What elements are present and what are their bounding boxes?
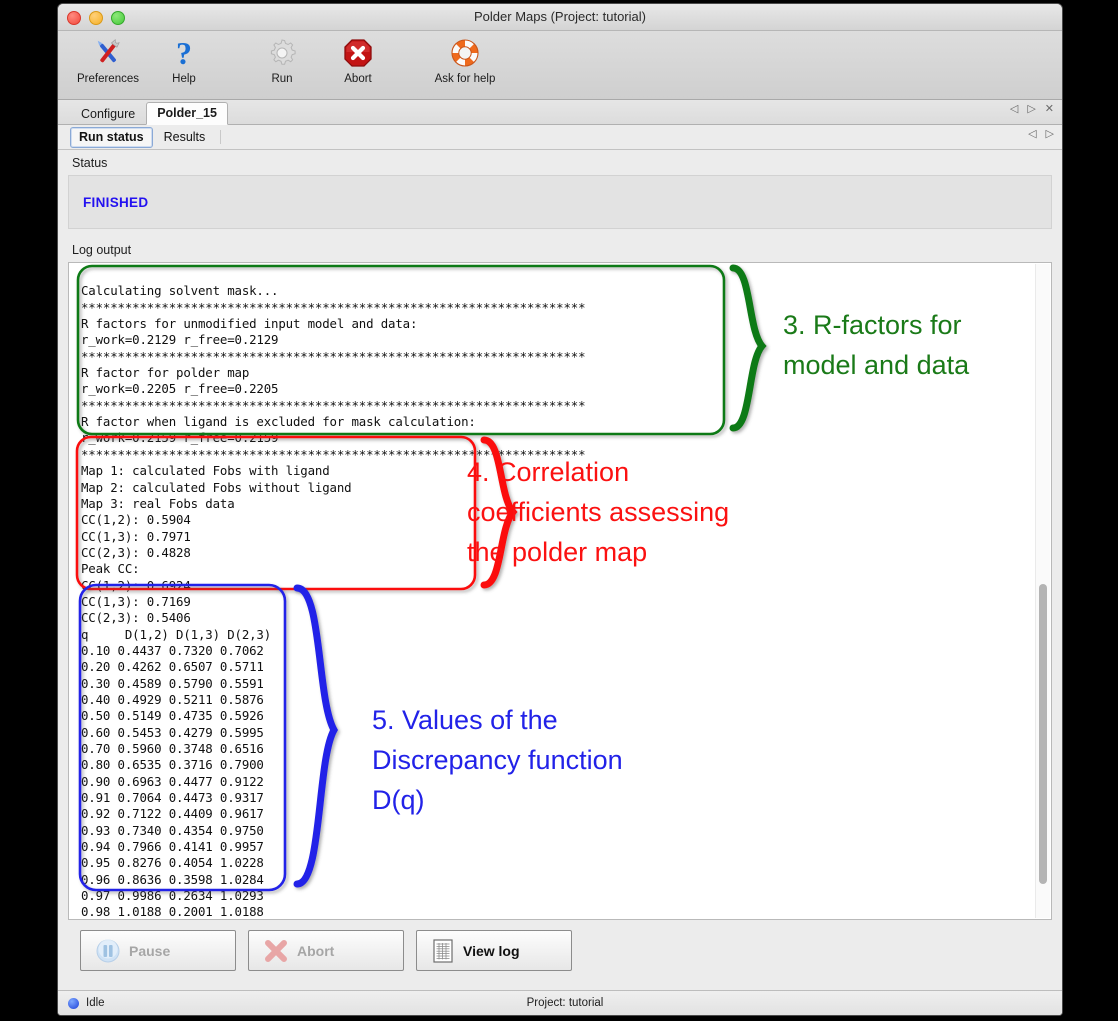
sub-tab-nav: ◁ ▷ [1028, 129, 1054, 140]
toolbar-label-abort: Abort [344, 73, 372, 85]
question-mark-icon: ? [167, 34, 201, 72]
view-log-button[interactable]: View log [416, 930, 572, 971]
pause-button-label: Pause [129, 943, 170, 959]
lifebuoy-icon [449, 34, 481, 72]
status-bar: Idle Project: tutorial [58, 990, 1062, 1015]
toolbar-label-ask-for-help: Ask for help [435, 73, 496, 85]
pause-button[interactable]: Pause [80, 930, 236, 971]
x-cross-icon [263, 938, 289, 964]
main-content: Status FINISHED Log output Calculating s… [58, 150, 1062, 1016]
action-button-bar: Pause Abort [68, 920, 1052, 971]
tab-polder-15[interactable]: Polder_15 [146, 102, 228, 125]
idle-indicator-icon [68, 998, 79, 1009]
toolbar-button-run[interactable]: Run [244, 34, 320, 85]
stop-x-icon [342, 34, 374, 72]
status-section-label: Status [68, 150, 1052, 175]
view-log-button-label: View log [463, 943, 520, 959]
log-output-text: Calculating solvent mask... ************… [81, 283, 585, 920]
log-section-label: Log output [68, 229, 1052, 262]
abort-button-label: Abort [297, 943, 334, 959]
annotation-label-r-factors: 3. R-factors for model and data [783, 305, 969, 385]
toolbar-button-ask-for-help[interactable]: Ask for help [418, 34, 512, 85]
sub-tab-separator [220, 130, 221, 144]
toolbar-label-help: Help [172, 73, 196, 85]
status-bar-project: Project: tutorial [368, 997, 762, 1009]
toolbar-button-abort[interactable]: Abort [320, 34, 396, 85]
gear-icon [266, 34, 298, 72]
toolbar-label-preferences: Preferences [77, 73, 139, 85]
annotation-label-discrepancy: 5. Values of the Discrepancy function D(… [372, 700, 623, 820]
project-tab-nav: ◁ ▷ ✕ [1010, 104, 1054, 115]
annotation-label-correlation: 4. Correlation coefficients assessing th… [467, 452, 729, 572]
tab-prev-icon[interactable]: ◁ [1010, 104, 1018, 115]
document-icon [431, 938, 455, 964]
sub-tab-bar: Run status Results ◁ ▷ [58, 125, 1062, 150]
tab-results[interactable]: Results [155, 127, 215, 148]
project-tab-bar: Configure Polder_15 ◁ ▷ ✕ [58, 100, 1062, 125]
tab-run-status[interactable]: Run status [70, 127, 153, 148]
svg-text:?: ? [176, 36, 192, 70]
toolbar-button-preferences[interactable]: Preferences [70, 34, 146, 85]
log-scrollbar-thumb[interactable] [1039, 584, 1047, 884]
subtab-next-icon[interactable]: ▷ [1046, 129, 1054, 140]
status-bar-left: Idle [58, 997, 368, 1009]
toolbar-button-help[interactable]: ? Help [146, 34, 222, 85]
status-badge: FINISHED [83, 195, 148, 210]
title-bar: Polder Maps (Project: tutorial) [58, 4, 1062, 31]
pause-icon [95, 938, 121, 964]
tab-next-icon[interactable]: ▷ [1027, 104, 1035, 115]
window-title: Polder Maps (Project: tutorial) [58, 9, 1062, 24]
tab-close-icon[interactable]: ✕ [1045, 104, 1054, 115]
log-scrollbar[interactable] [1035, 264, 1050, 918]
tab-configure[interactable]: Configure [70, 103, 146, 125]
screenshot-root: Polder Maps (Project: tutorial) [0, 0, 1118, 1021]
toolbar: Preferences ? Help [58, 31, 1062, 100]
status-panel: FINISHED [68, 175, 1052, 229]
subtab-prev-icon[interactable]: ◁ [1028, 129, 1036, 140]
tools-icon [91, 34, 125, 72]
toolbar-label-run: Run [271, 73, 292, 85]
abort-button[interactable]: Abort [248, 930, 404, 971]
status-bar-state: Idle [86, 997, 105, 1009]
